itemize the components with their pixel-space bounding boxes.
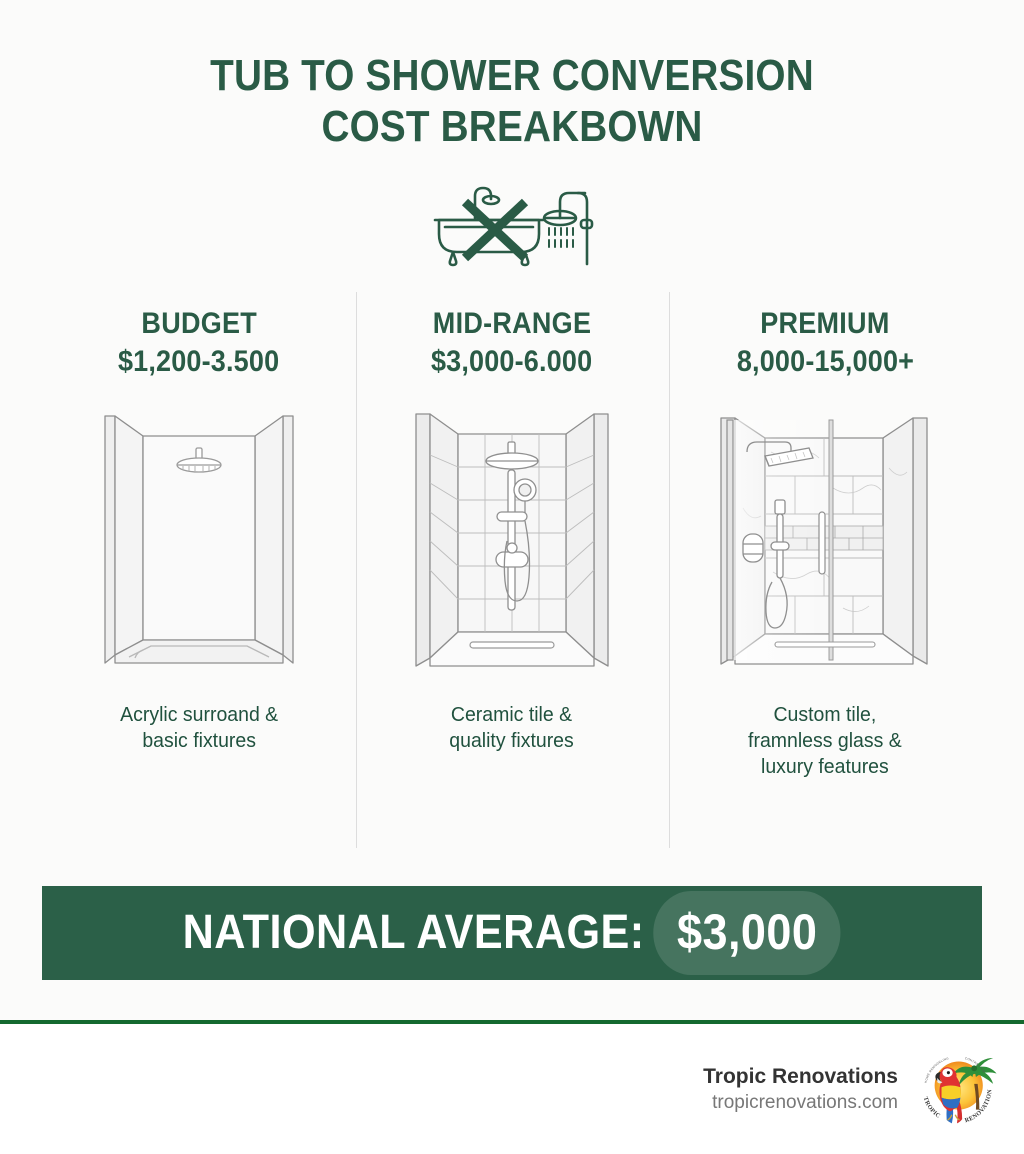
page-title-line-2: COST BREAKBOWN	[61, 101, 962, 152]
national-average-value-highlight: $3,000	[654, 897, 841, 969]
premium-marble-shower-illustration	[713, 408, 937, 676]
tier-mid-range-description-line-2: quality fixtures	[450, 728, 574, 754]
footer-brand-text: Tropic Renovations tropicrenovations.com	[703, 1063, 898, 1115]
tier-mid-range-description-line-1: Ceramic tile &	[450, 702, 574, 728]
infographic-page: TUB TO SHOWER CONVERSION COST BREAKBOWN	[0, 0, 1024, 1154]
national-average-content: NATIONAL AVERAGE: $3,000	[183, 897, 841, 969]
tier-mid-range-price: $3,000-6.000	[431, 342, 592, 382]
national-average-label: NATIONAL AVERAGE:	[183, 905, 645, 961]
page-title-line-1: TUB TO SHOWER CONVERSION	[61, 50, 962, 101]
tier-premium-name: PREMIUM	[760, 306, 889, 342]
header: TUB TO SHOWER CONVERSION COST BREAKBOWN	[0, 0, 1024, 152]
footer: Tropic Renovations tropicrenovations.com	[0, 1024, 1024, 1154]
tier-mid-range-description: Ceramic tile & quality fixtures	[450, 702, 574, 754]
tier-budget: BUDGET $1,200-3.500	[43, 292, 356, 848]
tier-premium: PREMIUM 8,000-15,000+	[669, 292, 982, 848]
brand-name: Tropic Renovations	[703, 1063, 898, 1090]
tub-to-shower-icon	[0, 178, 1024, 270]
national-average-value: $3,000	[677, 903, 817, 961]
tier-premium-description-line-3: luxury features	[748, 754, 902, 780]
tropic-renovations-parrot-logo: TROPIC RENOVATIONS HOME REMODELING CONTR…	[914, 1046, 1000, 1132]
tier-budget-description: Acrylic surroand & basic fixtures	[120, 702, 278, 754]
tier-mid-range: MID-RANGE $3,000-6.000	[356, 292, 669, 848]
svg-text:TROPIC: TROPIC	[922, 1096, 942, 1120]
tier-budget-description-line-2: basic fixtures	[120, 728, 278, 754]
tier-premium-price: 8,000-15,000+	[736, 342, 913, 382]
tier-budget-name: BUDGET	[141, 306, 257, 342]
budget-acrylic-shower-illustration	[95, 408, 303, 676]
tier-budget-price: $1,200-3.500	[118, 342, 279, 382]
tier-premium-description-line-2: framnless glass &	[748, 728, 902, 754]
brand-url[interactable]: tropicrenovations.com	[703, 1090, 898, 1115]
tier-mid-range-name: MID-RANGE	[433, 306, 591, 342]
tier-budget-description-line-1: Acrylic surroand &	[120, 702, 278, 728]
national-average-banner: NATIONAL AVERAGE: $3,000	[42, 886, 982, 980]
tier-premium-description-line-1: Custom tile,	[748, 702, 902, 728]
mid-range-tile-shower-illustration	[408, 408, 616, 676]
tier-columns: BUDGET $1,200-3.500	[0, 292, 1024, 848]
tier-premium-description: Custom tile, framnless glass & luxury fe…	[748, 702, 902, 780]
